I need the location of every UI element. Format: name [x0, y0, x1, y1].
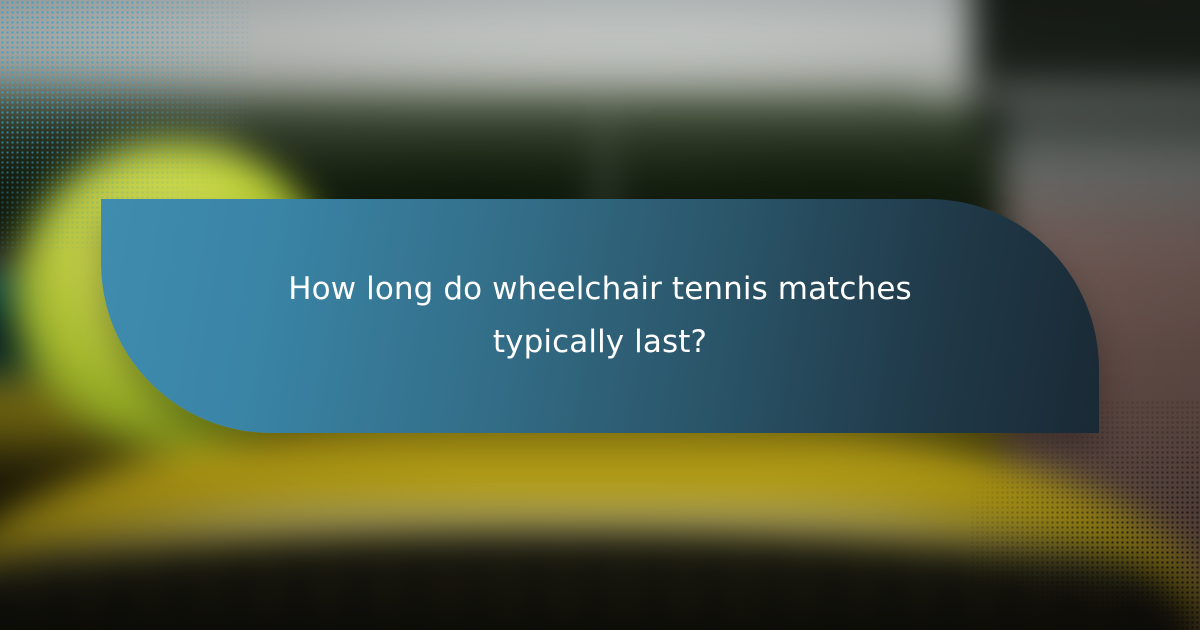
question-title: How long do wheelchair tennis matches ty… [251, 263, 949, 369]
halftone-dots-bottom-right-icon [970, 400, 1200, 630]
share-card-canvas: How long do wheelchair tennis matches ty… [0, 0, 1200, 630]
question-card: How long do wheelchair tennis matches ty… [101, 199, 1099, 433]
